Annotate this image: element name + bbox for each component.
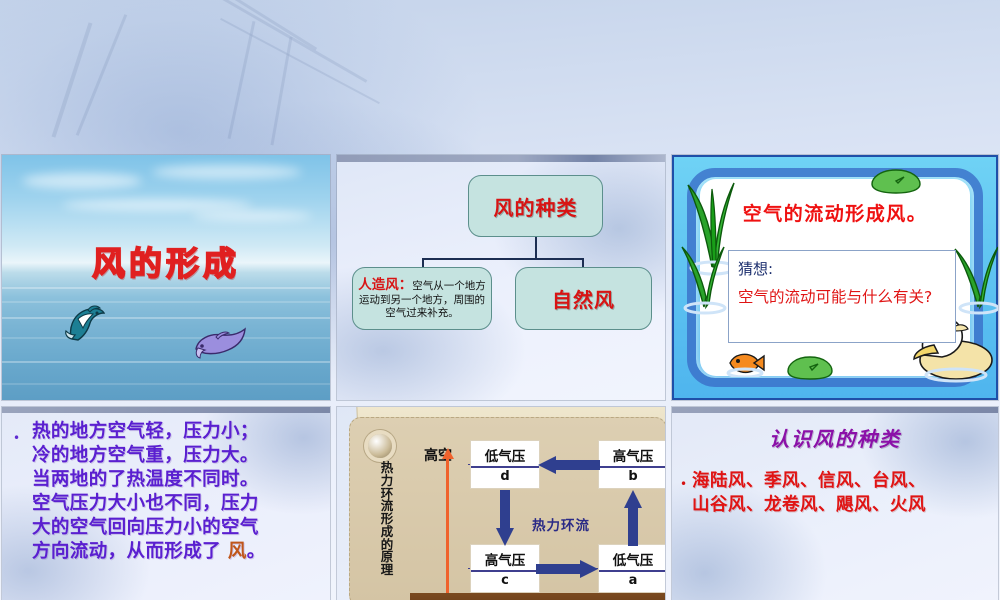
thermal-circulation-scene: 热力环流形成的原理 高空 低气压 d 高气压 — [337, 407, 665, 600]
thermal-circulation-label: 热力环流 — [532, 514, 590, 534]
pressure-line-2: 冷的地方空气重，压力大。 — [32, 445, 259, 466]
wind-types-list-scene: 认识风的种类 • 海陆风、季风、信风、台风、山谷风、龙卷风、飓风、火风 — [672, 407, 998, 600]
guess-label: 猜想: — [738, 258, 946, 279]
tree-node-natural-wind: 自然风 — [515, 267, 652, 330]
pressure-box-bottom-right-label: 低气压 — [613, 549, 654, 569]
dolphin-purple-icon — [192, 327, 248, 361]
paper-card: 热力环流形成的原理 高空 低气压 d 高气压 — [349, 417, 665, 600]
pressure-text-scene: • 热的地方空气轻，压力小；冷的地方空气重，压力大。当两地的了热温度不同时。空气… — [2, 407, 330, 600]
pressure-box-divider — [471, 466, 539, 467]
tree-diagram-scene: 风的种类 人造风：空气从一个地方运动到另一个地方，周围的空气过来补充。 自然风 — [337, 155, 665, 400]
slide-title: 认识风的种类 — [672, 423, 998, 452]
tree-node-artificial-wind-text: 人造风：空气从一个地方运动到另一个地方，周围的空气过来补充。 — [358, 277, 486, 320]
wind-types-line-2: 山谷风、龙卷风、飓风、火风 — [692, 495, 926, 515]
tree-node-root: 风的种类 — [468, 175, 603, 237]
bullet-marker: • — [13, 431, 20, 445]
pressure-box-divider — [599, 466, 665, 467]
tree-node-natural-wind-label: 自然风 — [552, 284, 615, 313]
slide-title: 风的形成 — [92, 237, 240, 285]
pressure-box-top-right-label: 高气压 — [613, 445, 654, 465]
wind-types-paragraph: 海陆风、季风、信风、台风、山谷风、龙卷风、飓风、火风 — [692, 470, 998, 517]
slide-title: 空气的流动形成风。 — [743, 199, 928, 226]
wind-types-line-1: 海陆风、季风、信风、台风、 — [692, 471, 926, 491]
pressure-box-bottom-right-letter: a — [629, 573, 638, 588]
slide-thumbnail-wind-types-tree[interactable]: 风的种类 人造风：空气从一个地方运动到另一个地方，周围的空气过来补充。 自然风 — [337, 155, 665, 400]
sentence-period: 。 — [247, 541, 266, 562]
pressure-line-3: 当两地的了热温度不同时。 — [32, 469, 259, 490]
arrow-right-upward-icon — [624, 490, 642, 546]
slide-deck: 风的形成 风的种类 — [0, 0, 1000, 600]
pressure-box-top-left: 低气压 d — [470, 440, 540, 489]
pressure-box-bottom-right: 低气压 a — [598, 544, 665, 593]
dolphin-teal-icon — [64, 303, 108, 345]
slide-top-band — [337, 155, 665, 162]
reed-left-lower-icon — [678, 235, 730, 315]
arrow-top-right-to-left-icon — [538, 456, 600, 474]
fish-icon — [724, 349, 766, 377]
pressure-box-bottom-left-letter: c — [501, 573, 509, 588]
pressure-box-top-right: 高气压 b — [598, 440, 665, 489]
pressure-box-top-right-letter: b — [628, 469, 637, 484]
pressure-box-top-left-letter: d — [500, 469, 509, 484]
slide-top-band — [2, 407, 330, 413]
arrow-bottom-left-to-right-icon — [536, 560, 598, 578]
slide-thumbnail-pressure-explanation[interactable]: • 热的地方空气轻，压力小；冷的地方空气重，压力大。当两地的了热温度不同时。空气… — [2, 407, 330, 600]
tree-node-artificial-wind: 人造风：空气从一个地方运动到另一个地方，周围的空气过来补充。 — [352, 267, 492, 330]
pressure-line-4: 空气压力大小也不同，压力 — [32, 493, 259, 514]
pressure-box-top-left-label: 低气压 — [485, 445, 526, 465]
guess-textbox: 猜想: 空气的流动可能与什么有关? — [728, 250, 956, 343]
bullet-marker: • — [680, 477, 687, 491]
slide-thumbnail-wind-formation[interactable]: 风的形成 — [2, 155, 330, 400]
pressure-box-divider — [599, 570, 665, 571]
slide-thumbnail-thermal-circulation[interactable]: 热力环流形成的原理 高空 低气压 d 高气压 — [337, 407, 665, 600]
orange-vertical-axis — [446, 456, 449, 596]
pressure-line-1: 热的地方空气轻，压力小； — [32, 421, 259, 442]
wind-keyword: 风 — [228, 541, 247, 562]
card-vertical-title: 热力环流形成的原理 — [378, 462, 396, 577]
tree-connector-vertical-root — [535, 237, 537, 259]
slide-top-band — [672, 407, 998, 413]
grommet-hole-icon — [368, 434, 392, 458]
pressure-paragraph: 热的地方空气轻，压力小；冷的地方空气重，压力大。当两地的了热温度不同时。空气压力… — [32, 420, 322, 564]
pond-scene: 空气的流动形成风。 猜想: 空气的流动可能与什么有关? — [672, 155, 998, 400]
pressure-box-bottom-left: 高气压 c — [470, 544, 540, 593]
tree-node-root-label: 风的种类 — [494, 192, 578, 221]
ocean-scene: 风的形成 — [2, 155, 330, 400]
lily-pad-top-icon — [870, 167, 922, 195]
guess-question: 空气的流动可能与什么有关? — [738, 288, 946, 307]
slide-thumbnail-air-flow[interactable]: 空气的流动形成风。 猜想: 空气的流动可能与什么有关? — [672, 155, 998, 400]
pressure-box-divider — [471, 570, 539, 571]
pressure-line-5: 大的空气回向压力小的空气 — [32, 517, 259, 538]
orange-arrow-head-icon — [441, 448, 455, 460]
slide-thumbnail-know-wind-types[interactable]: 认识风的种类 • 海陆风、季风、信风、台风、山谷风、龙卷风、飓风、火风 — [672, 407, 998, 600]
tree-connector-horizontal — [422, 258, 584, 260]
tree-node-artificial-wind-label: 人造风： — [358, 277, 412, 293]
arrow-left-downward-icon — [496, 490, 514, 546]
ground-band: 地面 冷 热 — [410, 593, 665, 600]
pressure-box-bottom-left-label: 高气压 — [485, 549, 526, 569]
lily-pad-bottom-icon — [786, 355, 834, 381]
pressure-line-6: 方向流动，从而形成了 — [32, 541, 228, 562]
